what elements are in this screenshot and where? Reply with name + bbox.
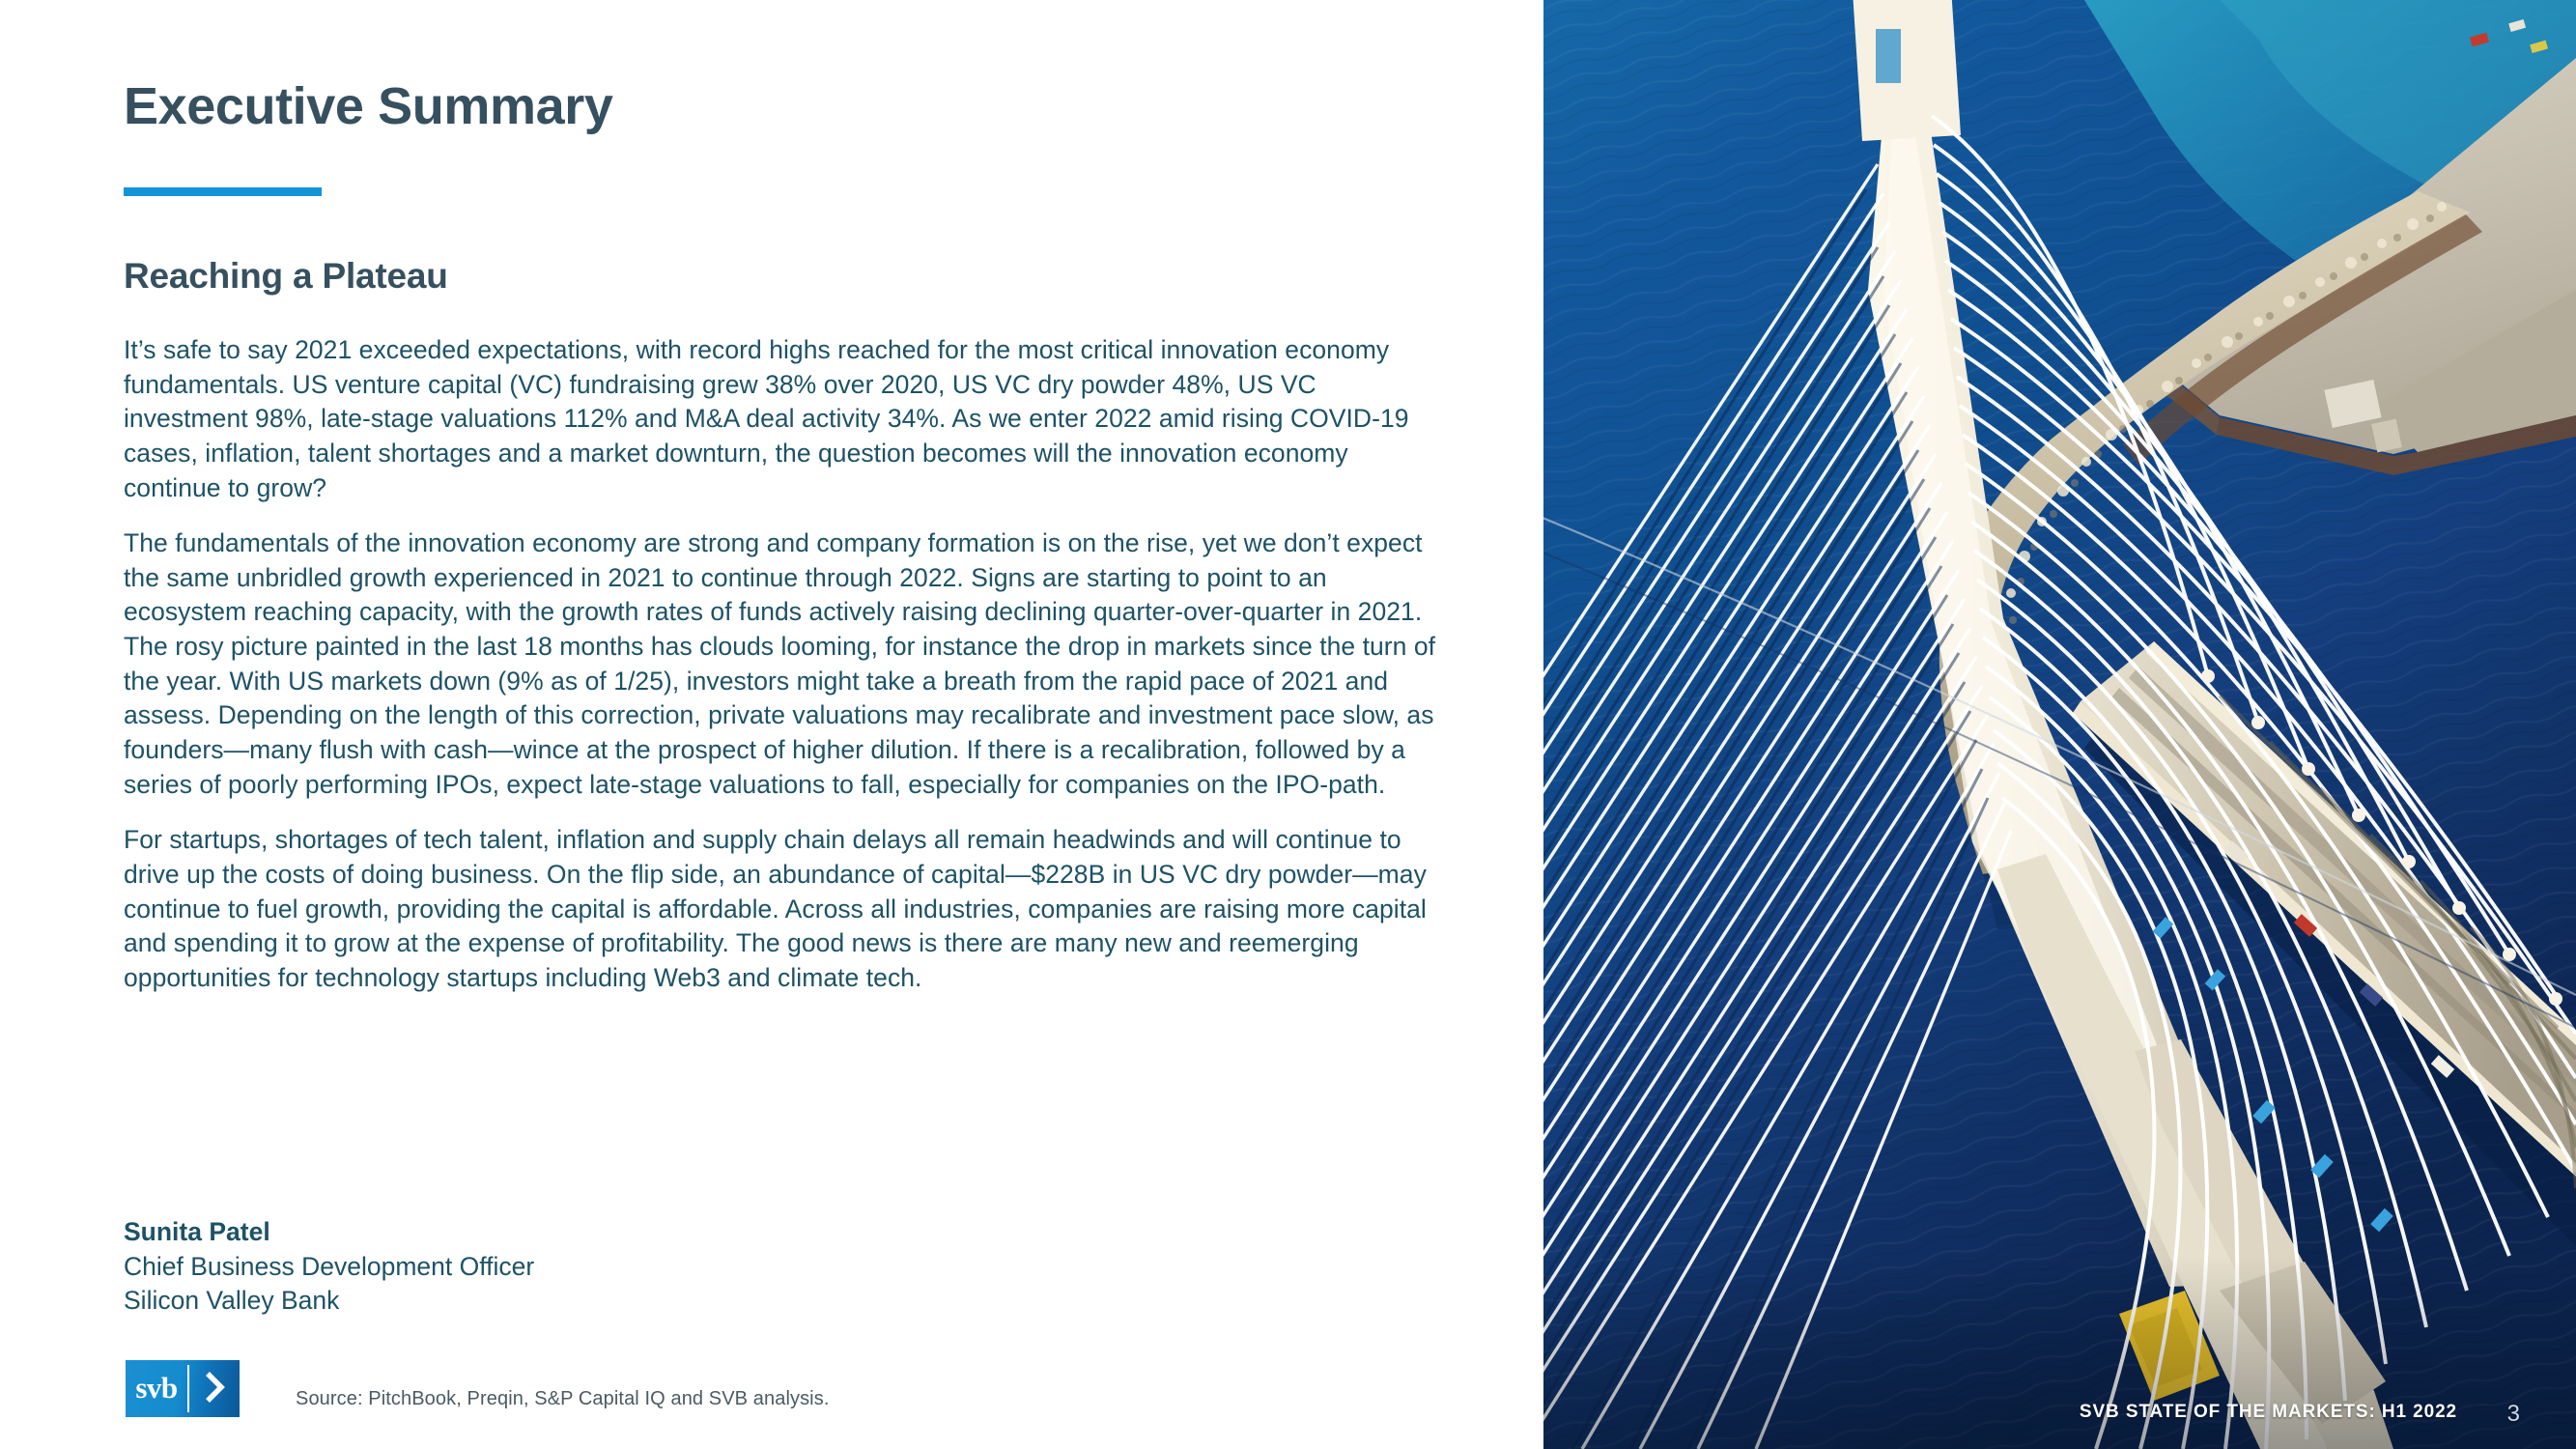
text-column: Executive Summary Reaching a Plateau It’…: [0, 0, 1543, 1449]
bridge-photo: SVB STATE OF THE MARKETS: H1 2022 3: [1543, 0, 2576, 1449]
signature-name: Sunita Patel: [124, 1215, 534, 1250]
signature-block: Sunita Patel Chief Business Development …: [124, 1215, 534, 1319]
page-number: 3: [2507, 1401, 2520, 1428]
title-accent-rule: [124, 187, 322, 196]
body-copy: It’s safe to say 2021 exceeded expectati…: [124, 333, 1437, 996]
paragraph: For startups, shortages of tech talent, …: [124, 823, 1437, 995]
paragraph: It’s safe to say 2021 exceeded expectati…: [124, 333, 1437, 505]
paragraph: The fundamentals of the innovation econo…: [124, 526, 1437, 802]
deck-title-footer: SVB STATE OF THE MARKETS: H1 2022: [2080, 1402, 2457, 1423]
signature-organization: Silicon Valley Bank: [124, 1284, 534, 1319]
section-heading: Reaching a Plateau: [124, 256, 448, 297]
svb-logo: svb: [126, 1360, 240, 1417]
slide: Executive Summary Reaching a Plateau It’…: [0, 0, 2576, 1449]
source-note: Source: PitchBook, Preqin, S&P Capital I…: [296, 1388, 829, 1410]
svb-wordmark: svb: [126, 1360, 187, 1417]
chevron-right-icon: [189, 1360, 240, 1417]
page-title: Executive Summary: [124, 79, 612, 134]
signature-role: Chief Business Development Officer: [124, 1250, 534, 1285]
